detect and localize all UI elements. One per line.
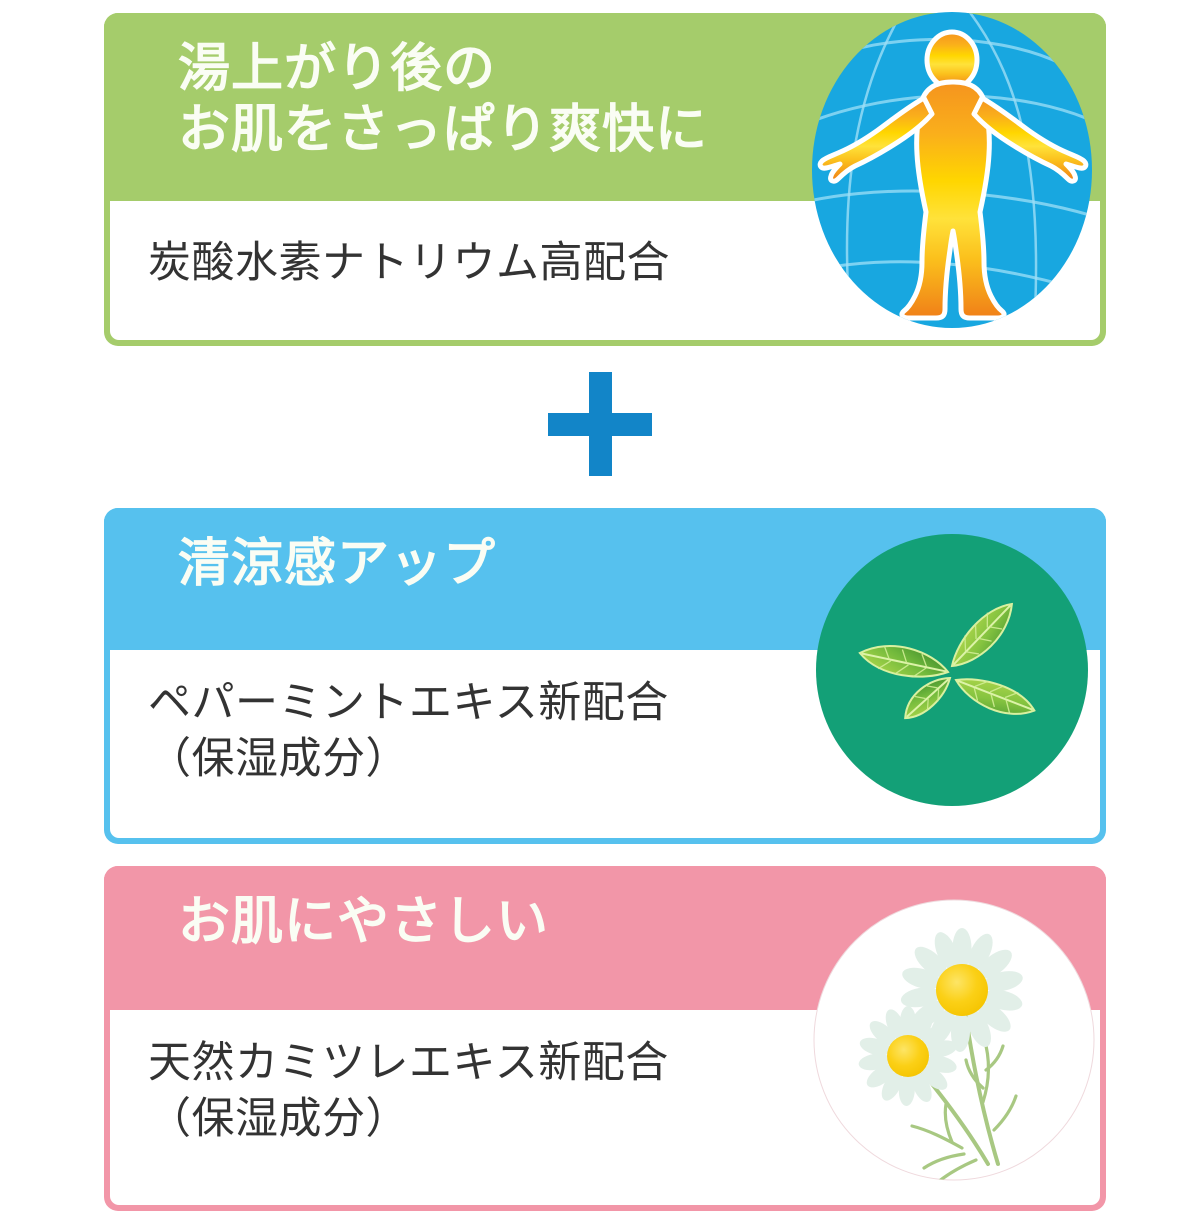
infographic-stage: 湯上がり後の お肌をさっぱり爽快に 炭酸水素ナトリウム高配合 bbox=[0, 0, 1200, 1200]
plus-vertical-bar bbox=[589, 372, 612, 476]
human-body-icon bbox=[812, 12, 1092, 328]
panel-2-body-text: ペパーミントエキス新配合 （保湿成分） bbox=[148, 676, 669, 788]
mint-leaf-icon bbox=[816, 534, 1088, 806]
plus-icon bbox=[548, 372, 652, 476]
chamomile-flower-icon bbox=[812, 898, 1096, 1182]
panel-3-body-text: 天然カミツレエキス新配合 （保湿成分） bbox=[148, 1036, 669, 1148]
panel-2-heading: 清涼感アップ bbox=[178, 534, 496, 595]
panel-1-heading: 湯上がり後の お肌をさっぱり爽快に bbox=[178, 39, 708, 162]
panel-1-body-text: 炭酸水素ナトリウム高配合 bbox=[148, 236, 670, 292]
panel-3-heading: お肌にやさしい bbox=[178, 892, 549, 953]
